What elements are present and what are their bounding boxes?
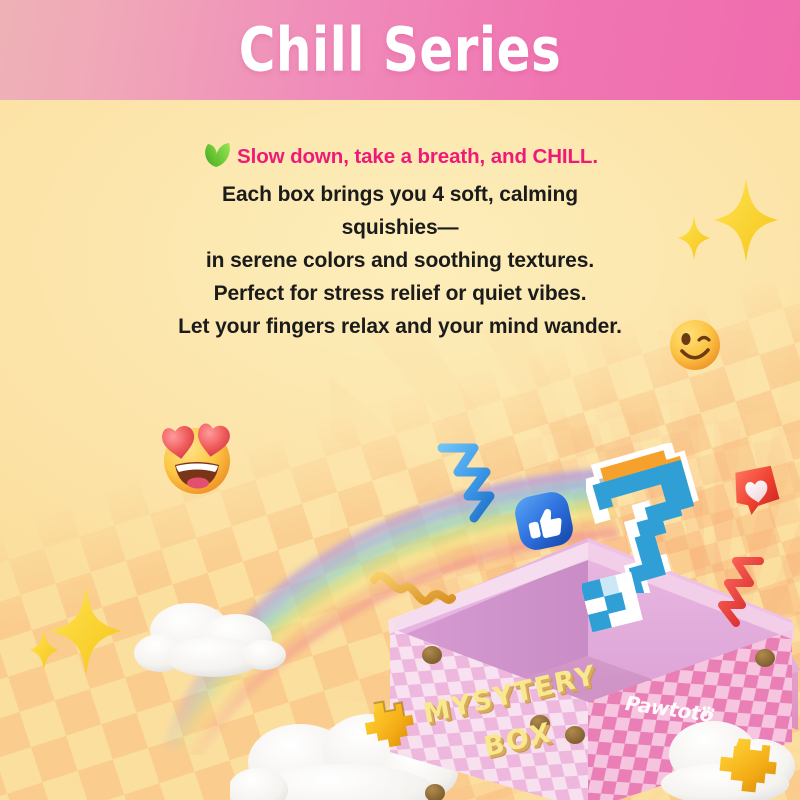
header-banner: Chill Series [0, 0, 800, 100]
pixel-block-icon [582, 572, 648, 634]
pixel-star-icon [706, 735, 780, 799]
page-title: Chill Series [239, 15, 562, 86]
headline-row: Slow down, take a breath, and CHILL. [0, 140, 800, 178]
body-line-1: Each box brings you 4 soft, calming [0, 178, 800, 211]
body-line-2: squishies— [0, 211, 800, 244]
poster-canvas: Chill Series Slow down, take [0, 0, 800, 800]
leaf-icon [202, 142, 232, 178]
sparkle-icon [24, 582, 134, 682]
headline-text: Slow down, take a breath, and CHILL. [237, 145, 598, 168]
heart-reaction-icon [728, 462, 784, 518]
description-block: Slow down, take a breath, and CHILL. Eac… [0, 140, 800, 343]
pixel-star-icon [352, 700, 414, 756]
heart-eyes-emoji [155, 415, 239, 499]
body-line-3: in serene colors and soothing textures. [0, 244, 800, 277]
pixel-question-mark-icon [586, 443, 726, 593]
blue-squiggle-icon [434, 438, 504, 526]
thumbs-up-icon [513, 490, 575, 552]
body-line-4: Perfect for stress relief or quiet vibes… [0, 277, 800, 310]
body-line-5: Let your fingers relax and your mind wan… [0, 310, 800, 343]
cloud-graphic [132, 595, 297, 687]
yellow-squiggle-icon [370, 566, 456, 616]
